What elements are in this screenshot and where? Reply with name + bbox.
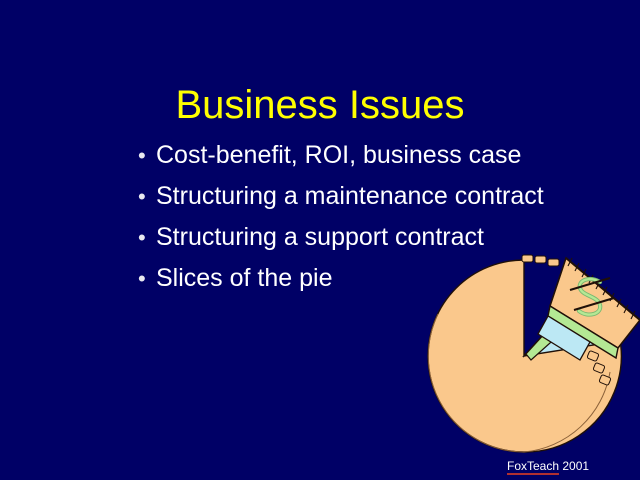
list-item: • Structuring a maintenance contract: [134, 181, 604, 212]
list-item-label: Cost-benefit, ROI, business case: [156, 140, 521, 171]
list-item-label: Structuring a maintenance contract: [156, 181, 544, 212]
bullet-point-icon: •: [134, 222, 156, 253]
pie-chart-svg: [404, 248, 640, 463]
list-item: • Cost-benefit, ROI, business case: [134, 140, 604, 171]
list-item-label: Slices of the pie: [156, 263, 333, 294]
pie-crust-nubs: [522, 255, 559, 266]
footer-credit-year: 2001: [559, 459, 589, 473]
footer-credit-name: FoxTeach: [507, 459, 559, 475]
presentation-slide: Business Issues • Cost-benefit, ROI, bus…: [0, 0, 640, 480]
pie-chart-clipart: [404, 248, 640, 463]
bullet-point-icon: •: [134, 181, 156, 212]
footer-credit: FoxTeach 2001: [507, 459, 589, 473]
bullet-point-icon: •: [134, 140, 156, 171]
page-title: Business Issues: [0, 83, 640, 127]
bullet-point-icon: •: [134, 263, 156, 294]
